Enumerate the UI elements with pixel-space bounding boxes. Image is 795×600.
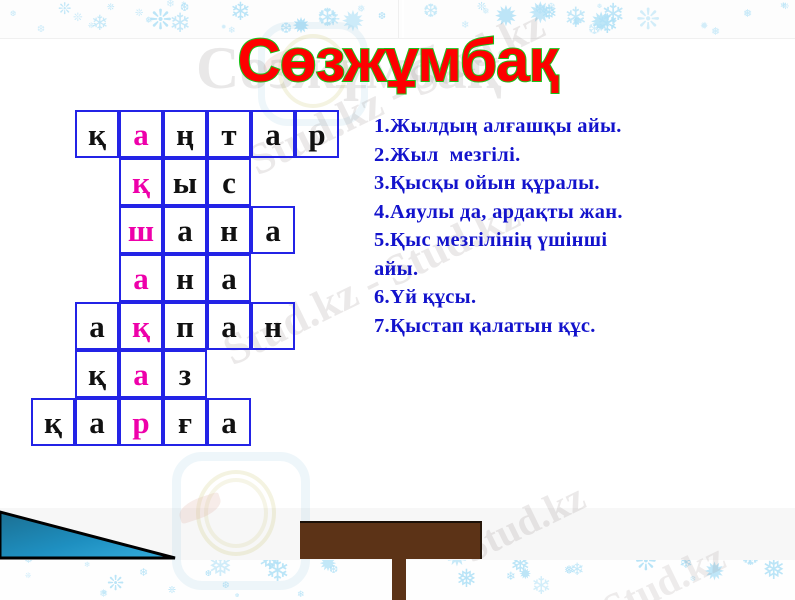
snowflake-icon: ❊ [25, 572, 31, 580]
clue-line: 2.Жыл мезгілі. [374, 141, 794, 170]
snowflake-icon: ✹ [704, 560, 725, 585]
snowflake-icon: ❊ [168, 587, 176, 596]
crossword-cell: қ [31, 398, 75, 446]
snowflake-icon: ❄ [265, 557, 290, 587]
crossword-cell: қ [119, 158, 163, 206]
crossword-cell: н [251, 302, 295, 350]
snowflake-icon: ❆ [235, 594, 239, 599]
snowflake-icon: ❄ [84, 561, 90, 569]
crossword-cell: қ [75, 110, 119, 158]
crossword-cell: ы [163, 158, 207, 206]
crossword-cell: қ [75, 350, 119, 398]
snowflake-icon: ❄ [139, 568, 148, 579]
snowflake-icon: ❅ [564, 565, 574, 577]
clue-line: 7.Қыстап қалатын құс. [374, 312, 794, 341]
crossword-grid: қаңтарқысшанаанаақпанқазқарға [0, 0, 400, 470]
crossword-cell: с [207, 158, 251, 206]
crossword-cell: қ [119, 302, 163, 350]
snowflake-icon: ❆ [690, 577, 696, 584]
crossword-cell: р [119, 398, 163, 446]
crossword-cell: н [207, 206, 251, 254]
snowflake-icon: ❊ [782, 3, 789, 11]
clue-line: 3.Қысқы ойын құралы. [374, 169, 794, 198]
snowflake-icon: ❅ [456, 568, 477, 593]
snowflake-icon: ❆ [597, 4, 602, 10]
clue-line: 4.Аяулы да, ардақты жан. [374, 198, 794, 227]
clue-list: 1.Жылдың алғашқы айы.2.Жыл мезгілі.3.Қыс… [374, 112, 794, 340]
crossword-cell: а [207, 254, 251, 302]
snowflake-icon: ❄ [297, 590, 305, 599]
crossword-cell: п [163, 302, 207, 350]
crossword-cell: а [75, 398, 119, 446]
crossword-cell: а [251, 110, 295, 158]
crossword-cell: н [163, 254, 207, 302]
crossword-cell: ғ [163, 398, 207, 446]
crossword-cell: ң [163, 110, 207, 158]
snowflake-icon: ❅ [99, 589, 108, 600]
crossword-cell: а [207, 398, 251, 446]
brown-signpost-pole [392, 557, 406, 600]
snowflake-icon: ❄ [531, 575, 552, 600]
snowflake-icon: ❅ [482, 7, 490, 16]
crossword-cell: а [119, 110, 163, 158]
snowflake-icon: ❄ [506, 571, 516, 583]
snowflake-icon: ❅ [743, 9, 752, 20]
snowflake-icon: ❆ [423, 3, 439, 22]
snowflake-icon: ❊ [107, 574, 124, 595]
clue-line: айы. [374, 255, 794, 284]
clue-line: 1.Жылдың алғашқы айы. [374, 112, 794, 141]
clue-line: 5.Қыс мезгілінің үшінші [374, 226, 794, 255]
crossword-cell: р [295, 110, 339, 158]
snowflake-icon: ❄ [534, 3, 546, 18]
crossword-cell: а [207, 302, 251, 350]
crossword-cell: а [119, 254, 163, 302]
crossword-cell: а [251, 206, 295, 254]
snowflake-icon: ❆ [205, 570, 212, 578]
crossword-cell: а [119, 350, 163, 398]
brown-signpost-board [300, 521, 482, 559]
crossword-cell: а [163, 206, 207, 254]
crossword-cell: т [207, 110, 251, 158]
clue-line: 6.Үй құсы. [374, 283, 794, 312]
blue-triangle-shape [0, 508, 200, 560]
crossword-cell: а [75, 302, 119, 350]
crossword-cell: ш [119, 206, 163, 254]
snowflake-icon: ❅ [762, 557, 785, 585]
crossword-cell: з [163, 350, 207, 398]
